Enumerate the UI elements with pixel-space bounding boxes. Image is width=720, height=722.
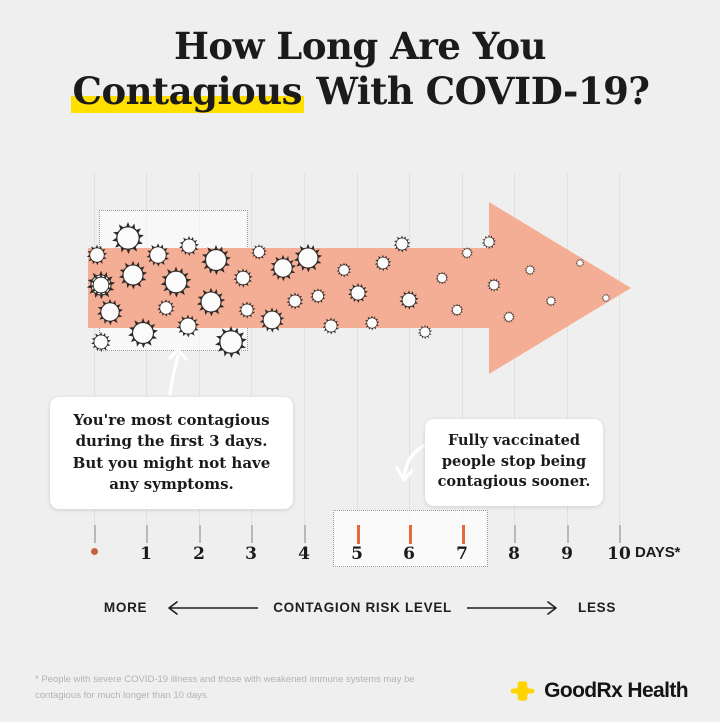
axis-tick-highlighted	[409, 525, 412, 544]
axis-label-day-10: 10	[607, 544, 631, 564]
callout-first-three-days: You're most contagious during the first …	[50, 397, 293, 509]
axis-label-day-9: 9	[561, 544, 573, 564]
brand-logo: GoodRx Health	[511, 679, 688, 703]
axis-label-day-4: 4	[298, 544, 310, 564]
title-line-2-rest: With COVID-19?	[304, 69, 650, 113]
title-highlight: Contagious	[71, 69, 304, 114]
legend-label-less: LESS	[578, 600, 616, 615]
axis-label-day-6: 6	[403, 544, 415, 564]
axis-tick	[199, 525, 201, 543]
title-highlight-text: Contagious	[73, 69, 302, 113]
axis-tick	[146, 525, 148, 543]
footnote: * People with severe COVID-19 illness an…	[35, 672, 425, 703]
axis-tick	[304, 525, 306, 543]
days-axis: 1 2 3 4 5 6 7 8 9 10 DAYS*	[0, 515, 720, 575]
axis-label-day-8: 8	[508, 544, 520, 564]
axis-label-day-2: 2	[193, 544, 205, 564]
goodrx-plus-icon	[511, 679, 535, 703]
page-title: How Long Are You Contagious With COVID-1…	[0, 24, 720, 114]
arrow-left-icon	[160, 601, 260, 615]
title-line-1: How Long Are You	[0, 24, 720, 69]
axis-tick-highlighted	[357, 525, 360, 544]
axis-unit-label: DAYS*	[635, 544, 680, 561]
axis-tick-highlighted	[462, 525, 465, 544]
callout-pointer-vaccinated	[397, 445, 425, 480]
axis-label-day-3: 3	[245, 544, 257, 564]
title-line-2: Contagious With COVID-19?	[0, 69, 720, 114]
legend-label-more: MORE	[104, 600, 147, 615]
axis-tick	[251, 525, 253, 543]
axis-tick	[619, 525, 621, 543]
legend-label-center: CONTAGION RISK LEVEL	[273, 600, 452, 615]
day-zero-dot	[91, 548, 98, 555]
axis-label-day-1: 1	[140, 544, 152, 564]
contagion-risk-legend: MORE CONTAGION RISK LEVEL LESS	[0, 600, 720, 615]
axis-label-day-7: 7	[456, 544, 468, 564]
brand-name: GoodRx Health	[544, 679, 688, 703]
axis-label-day-5: 5	[351, 544, 363, 564]
callout-pointer-first3	[170, 350, 186, 394]
callout-vaccinated: Fully vaccinated people stop being conta…	[425, 419, 603, 506]
axis-tick	[514, 525, 516, 543]
axis-tick	[567, 525, 569, 543]
arrow-right-icon	[465, 601, 565, 615]
axis-tick	[94, 525, 96, 543]
